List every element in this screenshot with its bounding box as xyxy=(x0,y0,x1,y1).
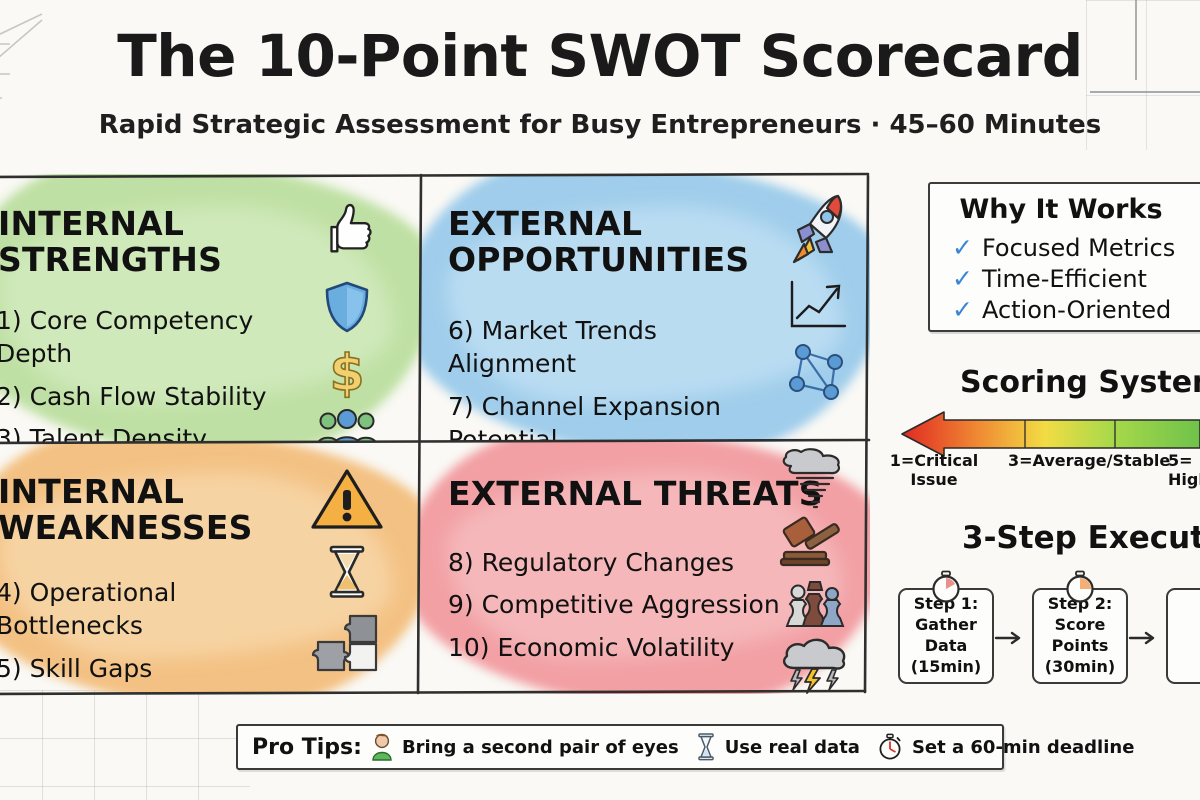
list-item: 3) Talent Density xyxy=(0,422,326,442)
scoring-system-title: Scoring System xyxy=(960,365,1200,400)
quadrant-internal-weaknesses: INTERNAL WEAKNESSES 4) Operational Bottl… xyxy=(0,442,420,694)
threats-heading: EXTERNAL THREATS xyxy=(448,476,823,512)
growth-chart-icon xyxy=(787,278,849,332)
gavel-icon xyxy=(778,512,850,570)
arrow-right-icon-2 xyxy=(1130,632,1158,644)
step-label: Step 1: Gather Data (15min) xyxy=(900,594,992,677)
weaknesses-list: 4) Operational Bottlenecks 5) Skill Gaps xyxy=(0,576,326,694)
rocket-icon xyxy=(782,190,854,268)
step-card-2: Step 2: Score Points (30min) xyxy=(1032,588,1128,684)
storm-cloud-icon xyxy=(776,632,852,694)
page-title: The 10-Point SWOT Scorecard xyxy=(0,22,1200,90)
why-item-label: Time-Efficient xyxy=(982,265,1147,293)
shield-icon xyxy=(323,280,371,334)
swot-matrix: INTERNAL STRENGTHS 1) Core Competency De… xyxy=(0,174,870,694)
list-item: 5) Skill Gaps xyxy=(0,652,326,685)
pro-tips-bar: Pro Tips: Bring a second pair of eyes Us… xyxy=(236,724,1004,770)
step-card-3: S ( Re (1 xyxy=(1166,588,1200,684)
weaknesses-icon-column xyxy=(304,466,390,674)
step-label: Step 2: Score Points (30min) xyxy=(1034,594,1126,677)
thumbs-up-icon xyxy=(316,198,378,260)
why-item-label: Action-Oriented xyxy=(982,296,1171,324)
svg-text:$: $ xyxy=(330,344,365,402)
warning-triangle-icon xyxy=(309,466,385,532)
pro-tip-text-3: Set a 60-min deadline xyxy=(912,737,1134,758)
list-item: ✓ Action-Oriented xyxy=(952,294,1175,325)
check-icon: ✓ xyxy=(952,235,973,260)
opportunities-list: 6) Market Trends Alignment 7) Channel Ex… xyxy=(448,314,788,442)
why-it-works-panel: Why It Works ✓ Focused Metrics ✓ Time-Ef… xyxy=(928,182,1200,332)
step-card-1: Step 1: Gather Data (15min) xyxy=(898,588,994,684)
why-item-label: Focused Metrics xyxy=(982,234,1175,262)
dollar-icon: $ xyxy=(327,346,367,400)
stopwatch-icon xyxy=(929,570,963,604)
list-item: 2) Cash Flow Stability xyxy=(0,380,326,413)
execution-steps: Step 1: Gather Data (15min) Step 2: Scor… xyxy=(896,566,1200,686)
list-item: 7) Channel Expansion Potential xyxy=(448,390,788,443)
puzzle-icon xyxy=(312,612,382,674)
why-it-works-title: Why It Works xyxy=(930,194,1192,225)
scoring-gradient-arrow xyxy=(900,412,1200,456)
person-icon xyxy=(371,733,393,761)
score-label-5: 5= High xyxy=(1168,452,1200,490)
hourglass-icon xyxy=(323,544,371,600)
list-item: 4) Operational Bottlenecks xyxy=(0,576,326,643)
pro-tips-label: Pro Tips: xyxy=(252,735,362,760)
pro-tip-text-2: Use real data xyxy=(725,737,860,758)
weaknesses-heading: INTERNAL WEAKNESSES xyxy=(0,474,253,545)
stopwatch-icon xyxy=(877,733,903,761)
chess-icon xyxy=(777,572,851,630)
pro-tip-text-1: Bring a second pair of eyes xyxy=(402,737,679,758)
opportunities-heading: EXTERNAL OPPORTUNITIES xyxy=(448,206,749,277)
tornado-icon xyxy=(775,448,853,510)
score-label-3: 3=Average/Stable xyxy=(1008,452,1158,471)
infographic-canvas: The 10-Point SWOT Scorecard Rapid Strate… xyxy=(0,0,1200,800)
strengths-heading: INTERNAL STRENGTHS xyxy=(0,206,222,277)
list-item: ✓ Focused Metrics xyxy=(952,232,1175,263)
list-item: 9) Competitive Aggression xyxy=(448,588,788,621)
strengths-list: 1) Core Competency Depth 2) Cash Flow St… xyxy=(0,304,326,442)
list-item: ✓ Time-Efficient xyxy=(952,263,1175,294)
hourglass-icon xyxy=(696,733,716,761)
arrow-right-icon-1 xyxy=(996,632,1024,644)
strengths-icon-column: $ xyxy=(310,198,384,442)
people-icon xyxy=(316,408,378,442)
graph-paper-grid-bottom-left xyxy=(0,690,250,800)
opportunities-icon-column xyxy=(776,190,860,406)
network-icon xyxy=(785,342,851,406)
quadrant-external-threats: EXTERNAL THREATS 8) Regulatory Changes 9… xyxy=(420,442,870,694)
why-it-works-list: ✓ Focused Metrics ✓ Time-Efficient ✓ Act… xyxy=(952,232,1175,325)
score-label-1: 1=Critical Issue xyxy=(886,452,982,490)
quadrant-internal-strengths: INTERNAL STRENGTHS 1) Core Competency De… xyxy=(0,174,420,442)
list-item: 8) Regulatory Changes xyxy=(448,546,788,579)
threats-list: 8) Regulatory Changes 9) Competitive Agg… xyxy=(448,546,788,673)
list-item: 1) Core Competency Depth xyxy=(0,304,326,371)
execution-title: 3-Step Execution xyxy=(962,520,1200,556)
list-item: 10) Economic Volatility xyxy=(448,631,788,664)
check-icon: ✓ xyxy=(952,297,973,322)
stopwatch-icon xyxy=(1063,570,1097,604)
quadrant-external-opportunities: EXTERNAL OPPORTUNITIES 6) Market Trends … xyxy=(420,174,870,442)
page-subtitle: Rapid Strategic Assessment for Busy Entr… xyxy=(0,110,1200,140)
threats-icon-column xyxy=(772,448,856,694)
check-icon: ✓ xyxy=(952,266,973,291)
list-item: 6) Market Trends Alignment xyxy=(448,314,788,381)
